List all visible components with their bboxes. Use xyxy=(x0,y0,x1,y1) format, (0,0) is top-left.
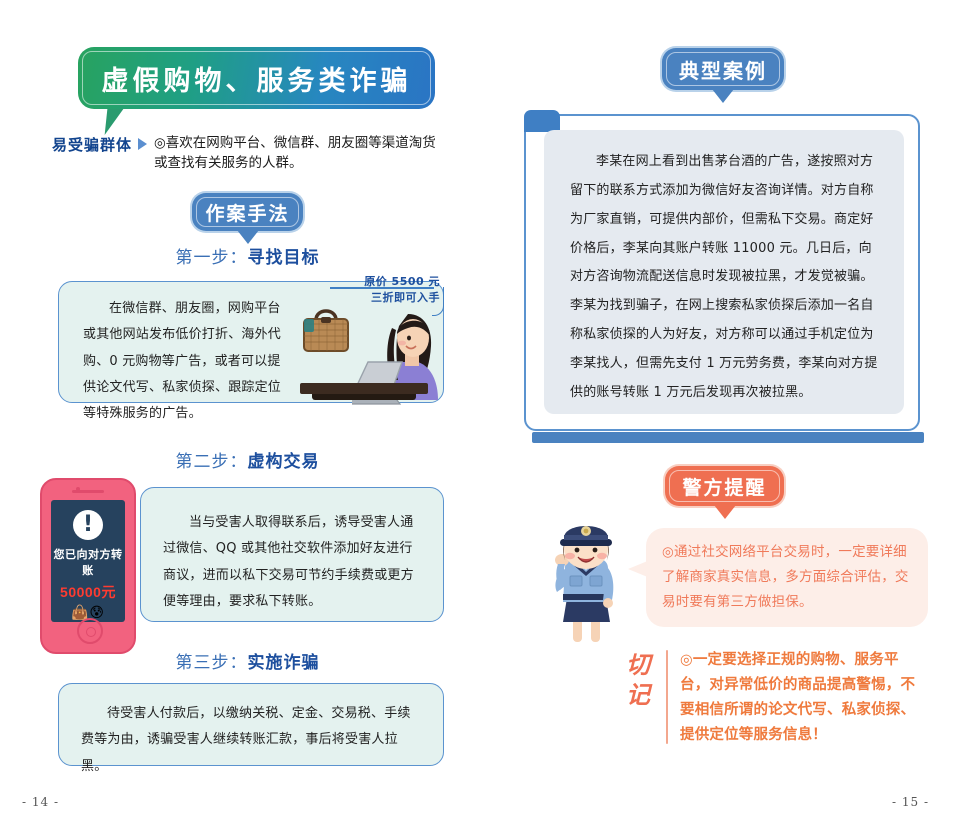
banner-tail xyxy=(105,109,138,135)
banner-tail xyxy=(237,230,259,244)
main-title-text: 虚假购物、服务类诈骗 xyxy=(102,59,412,98)
phone-transfer-notice: 您已向对方转账 xyxy=(51,546,125,578)
police-officer-saluting-icon xyxy=(527,514,645,650)
step-2-body: 当与受害人取得联系后，诱导受害人通过微信、QQ 或其他社交软件添加好友进行商议，… xyxy=(141,488,443,615)
handbag-icon xyxy=(298,300,354,354)
method-banner-text: 作案手法 xyxy=(205,199,289,226)
police-tip-text: ◎通过社交网络平台交易时，一定要详细了解商家真实信息，多方面综合评估，交易时要有… xyxy=(646,528,928,615)
triangle-right-icon xyxy=(138,138,147,150)
main-title-banner: 虚假购物、服务类诈骗 xyxy=(78,47,435,109)
case-content-box: 李某在网上看到出售茅台酒的广告，遂按照对方留下的联系方式添加为微信好友咨询详情。… xyxy=(544,130,904,414)
step-3-heading: 第三步：实施诈骗 xyxy=(0,648,495,673)
case-frame-tab xyxy=(524,110,560,132)
step-2-title: 虚构交易 xyxy=(248,452,320,472)
step-3-body: 待受害人付款后，以缴纳关税、定金、交易税、手续费等为由，诱骗受害人继续转账汇款，… xyxy=(59,684,443,780)
banner-tail xyxy=(714,505,736,519)
case-banner-text: 典型案例 xyxy=(679,55,767,84)
brochure-page: 虚假购物、服务类诈骗 易受骗群体 ◎喜欢在网购平台、微信群、朋友圈等渠道淘货或查… xyxy=(0,0,971,829)
step-1-prefix: 第一步： xyxy=(176,248,248,268)
page-number-left: - 14 - xyxy=(22,795,59,809)
victim-group-label: 易受骗群体 xyxy=(52,133,132,155)
step-3-content-box: 待受害人付款后，以缴纳关税、定金、交易税、手续费等为由，诱骗受害人继续转账汇款，… xyxy=(58,683,444,766)
remember-block: 切 记 ◎一定要选择正规的购物、服务平台，对异常低价的商品提高警惕，不要相信所谓… xyxy=(618,648,928,748)
method-banner: 作案手法 xyxy=(192,193,303,231)
step-3-prefix: 第三步： xyxy=(176,653,248,673)
banner-tail xyxy=(712,89,734,103)
step-1-title: 寻找目标 xyxy=(248,248,320,268)
step-1-heading: 第一步：寻找目标 xyxy=(0,243,495,268)
remember-mark-char-1: 切 xyxy=(618,650,658,680)
phone-illustration: ! 您已向对方转账 50000元 👜😰 xyxy=(40,478,136,654)
price-tag-rule xyxy=(330,287,434,289)
case-frame-foot xyxy=(532,432,924,443)
police-banner-text: 警方提醒 xyxy=(682,473,766,500)
victim-group-row: 易受骗群体 ◎喜欢在网购平台、微信群、朋友圈等渠道淘货或查找有关服务的人群。 xyxy=(52,133,442,174)
remember-mark: 切 记 xyxy=(618,648,658,748)
case-banner: 典型案例 xyxy=(662,48,784,90)
step-2-prefix: 第二步： xyxy=(176,452,248,472)
desk-surface xyxy=(300,383,428,394)
step-2-heading: 第二步：虚构交易 xyxy=(0,447,495,472)
desk-edge xyxy=(312,394,416,400)
remember-divider xyxy=(666,650,668,744)
page-number-right: - 15 - xyxy=(892,795,929,809)
step-3-title: 实施诈骗 xyxy=(248,653,320,673)
phone-speaker-icon xyxy=(72,490,104,493)
phone-transfer-amount: 50000元 xyxy=(51,582,125,602)
case-body: 李某在网上看到出售茅台酒的广告，遂按照对方留下的联系方式添加为微信好友咨询详情。… xyxy=(544,130,904,408)
phone-screen: ! 您已向对方转账 50000元 👜😰 xyxy=(51,500,125,622)
police-tip-bubble: ◎通过社交网络平台交易时，一定要详细了解商家真实信息，多方面综合评估，交易时要有… xyxy=(646,528,928,627)
victim-group-text: ◎喜欢在网购平台、微信群、朋友圈等渠道淘货或查找有关服务的人群。 xyxy=(154,133,442,174)
police-banner: 警方提醒 xyxy=(665,466,784,506)
exclamation-circle-icon: ! xyxy=(73,510,103,540)
remember-mark-char-2: 记 xyxy=(618,680,658,710)
remember-text: ◎一定要选择正规的购物、服务平台，对异常低价的商品提高警惕，不要相信所谓的论文代… xyxy=(680,648,922,748)
home-button-icon xyxy=(77,618,103,644)
step-2-content-box: 当与受害人取得联系后，诱导受害人通过微信、QQ 或其他社交软件添加好友进行商议，… xyxy=(140,487,444,622)
